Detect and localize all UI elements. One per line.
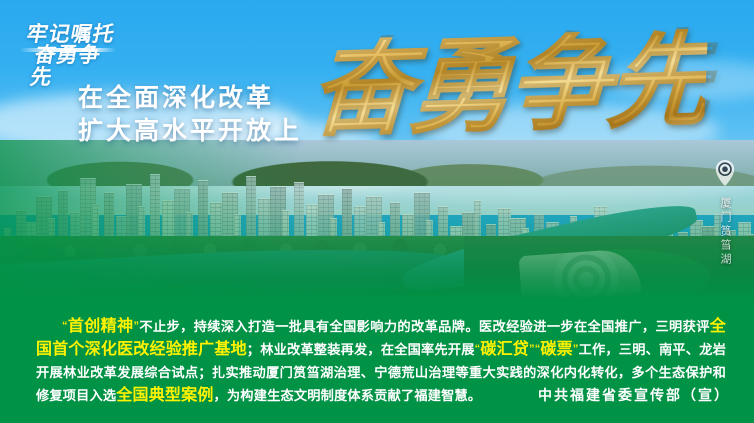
headline-line-2: 扩大高水平开放上: [78, 115, 302, 148]
body-text-run: ，为构建生态文明制度体系贡献了福建智慧。: [214, 388, 482, 403]
highlighted-phrase: 全国典型案例: [116, 387, 213, 404]
logo-line-1: 牢记嘱托: [15, 24, 127, 45]
location-name: 厦门筼筜湖: [717, 197, 733, 267]
highlighted-phrase: 碳汇贷: [480, 341, 529, 358]
map-pin-icon: [710, 160, 740, 191]
poster-root: 牢记嘱托 奋勇争先 在全面深化改革 扩大高水平开放上 奋勇争先 厦门筼筜湖 “首…: [0, 0, 754, 423]
logo-swoosh-decoration: [19, 48, 116, 52]
headline: 在全面深化改革 扩大高水平开放上: [78, 82, 302, 148]
green-left-overlay: [0, 140, 300, 300]
highlighted-phrase: 碳票: [540, 341, 572, 358]
body-text-run: ；林业改革整装再发，在全国率先开展: [247, 342, 475, 357]
headline-line-1: 在全面深化改革: [78, 82, 302, 115]
body-text-run: 不止步，持续深入打造一批具有全国影响力的改革品牌。医改经验进一步在全国推广，三明…: [139, 319, 710, 334]
highlighted-phrase: 首创精神: [68, 318, 134, 335]
publisher-credit: 中共福建省委宣传部（宣）: [538, 385, 730, 405]
campaign-logo: 牢记嘱托 奋勇争先: [9, 24, 127, 74]
calligraphy-title: 奋勇争先: [308, 28, 708, 142]
location-caption: 厦门筼筜湖: [710, 160, 740, 267]
